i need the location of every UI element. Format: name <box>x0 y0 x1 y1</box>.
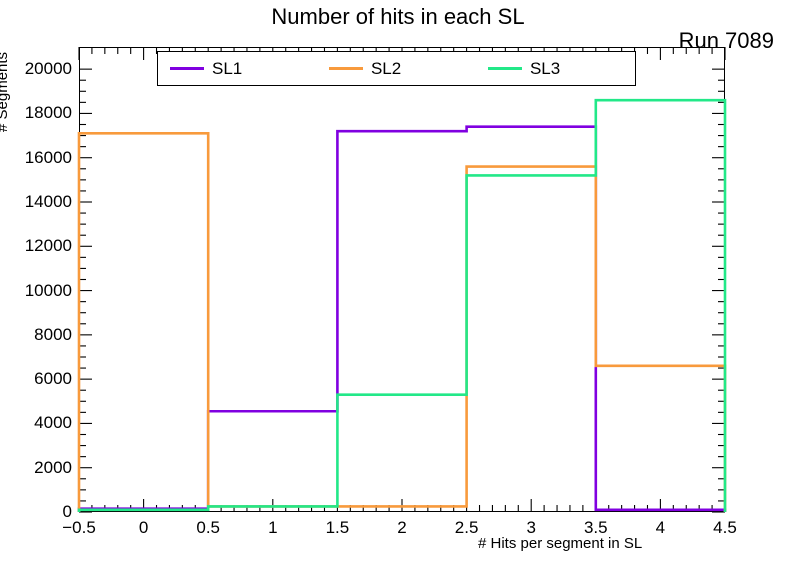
x-tick-label: 1 <box>243 518 303 538</box>
histogram-curves <box>79 100 725 512</box>
legend-label-sl2: SL2 <box>371 59 401 79</box>
y-tick-label: 10000 <box>0 281 72 301</box>
legend-swatch-sl2 <box>329 67 363 70</box>
x-tick-label: 0.5 <box>178 518 238 538</box>
series-sl2 <box>79 133 725 512</box>
y-tick-label: 6000 <box>0 369 72 389</box>
x-tick-label: 0 <box>114 518 174 538</box>
x-tick-label: 1.5 <box>307 518 367 538</box>
legend: SL1 SL2 SL3 <box>157 51 636 86</box>
legend-entry-sl3[interactable]: SL3 <box>476 59 635 79</box>
x-tick-label: −0.5 <box>49 518 109 538</box>
y-tick-label: 16000 <box>0 148 72 168</box>
y-tick-label: 8000 <box>0 325 72 345</box>
y-tick-label: 12000 <box>0 236 72 256</box>
x-tick-label: 2 <box>372 518 432 538</box>
x-tick-label: 4.5 <box>695 518 755 538</box>
legend-entry-sl2[interactable]: SL2 <box>317 59 476 79</box>
legend-swatch-sl3 <box>488 67 522 70</box>
legend-entry-sl1[interactable]: SL1 <box>158 59 317 79</box>
legend-label-sl3: SL3 <box>530 59 560 79</box>
series-sl1 <box>79 127 725 512</box>
legend-swatch-sl1 <box>170 67 204 70</box>
series-sl3 <box>79 100 725 512</box>
chart-page: Number of hits in each SL Run 7089 02000… <box>0 0 796 572</box>
y-axis-label: # Segments <box>0 52 11 132</box>
x-axis-label: # Hits per segment in SL <box>478 535 642 552</box>
axis-ticks <box>79 47 725 512</box>
y-tick-label: 4000 <box>0 413 72 433</box>
y-tick-label: 2000 <box>0 458 72 478</box>
legend-label-sl1: SL1 <box>212 59 242 79</box>
y-tick-label: 14000 <box>0 192 72 212</box>
